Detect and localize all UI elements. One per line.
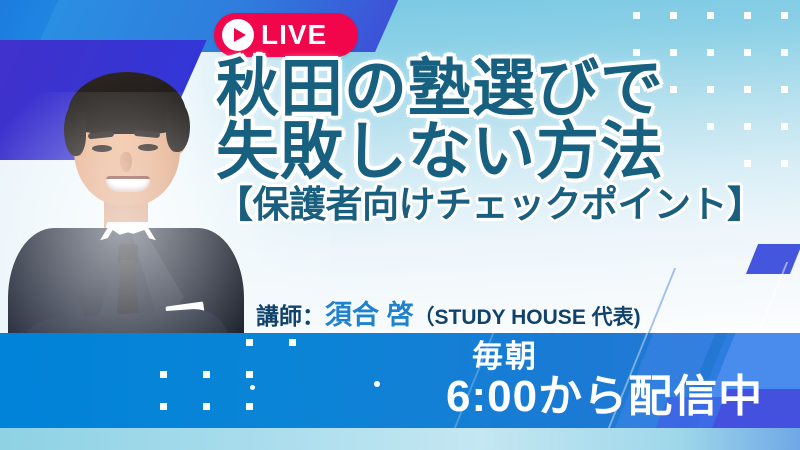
speaker-organization: （STUDY HOUSE 代表) [414,306,641,329]
schedule-label: 毎朝 [472,341,538,372]
thumbnail-canvas: LIVE 秋田の塾選びで 失敗しない方法 【保護者向けチェックポイント】 講師：… [0,0,800,450]
title-line-2: 失敗しない方法 [216,120,796,186]
play-icon [222,19,254,51]
live-badge-label: LIVE [261,21,327,49]
title-subtitle: 【保護者向けチェックポイント】 [216,186,796,225]
title-line-1: 秋田の塾選びで [216,57,796,123]
speaker-prefix: 講師： [256,303,325,329]
speaker-credit: 講師：須合 啓（STUDY HOUSE 代表) [256,293,641,332]
schedule-time: 6:00から配信中 [446,375,763,419]
decor-bottom-strip [0,428,800,450]
title-block: 秋田の塾選びで 失敗しない方法 【保護者向けチェックポイント】 [216,57,796,225]
live-badge: LIVE [214,13,358,57]
speaker-name: 須合 啓 [325,300,414,330]
